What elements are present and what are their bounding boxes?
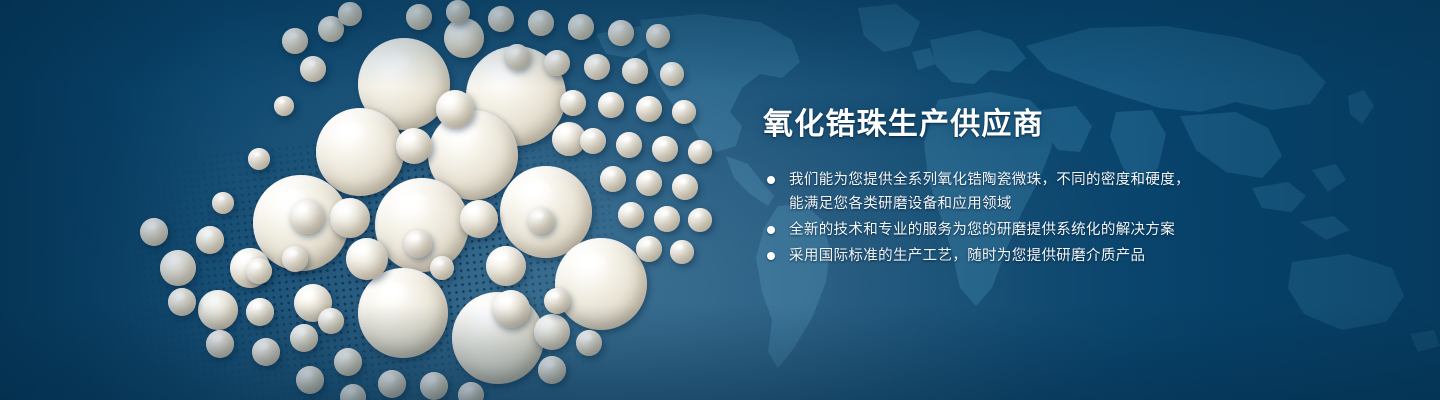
list-item: 采用国际标准的生产工艺，随时为您提供研磨介质产品 [763, 244, 1323, 268]
page-title: 氧化锆珠生产供应商 [763, 104, 1323, 146]
list-item-label: 采用国际标准的生产工艺，随时为您提供研磨介质产品 [789, 244, 1323, 268]
list-item-label-cont: 能满足您各类研磨设备和应用领域 [789, 192, 1323, 216]
list-item-label: 我们能为您提供全系列氧化锆陶瓷微珠，不同的密度和硬度， [789, 168, 1323, 192]
bullet-dot-icon [767, 226, 775, 234]
banner-copy: 氧化锆珠生产供应商 我们能为您提供全系列氧化锆陶瓷微珠，不同的密度和硬度， 能满… [763, 104, 1323, 270]
bullet-dot-icon [767, 252, 775, 260]
bullet-dot-icon [767, 176, 775, 184]
feature-list: 我们能为您提供全系列氧化锆陶瓷微珠，不同的密度和硬度， 能满足您各类研磨设备和应… [763, 168, 1323, 268]
list-item: 全新的技术和专业的服务为您的研磨提供系统化的解决方案 [763, 218, 1323, 242]
list-item: 我们能为您提供全系列氧化锆陶瓷微珠，不同的密度和硬度， 能满足您各类研磨设备和应… [763, 168, 1323, 216]
list-item-label: 全新的技术和专业的服务为您的研磨提供系统化的解决方案 [789, 218, 1323, 242]
hero-banner: 氧化锆珠生产供应商 我们能为您提供全系列氧化锆陶瓷微珠，不同的密度和硬度， 能满… [0, 0, 1440, 400]
